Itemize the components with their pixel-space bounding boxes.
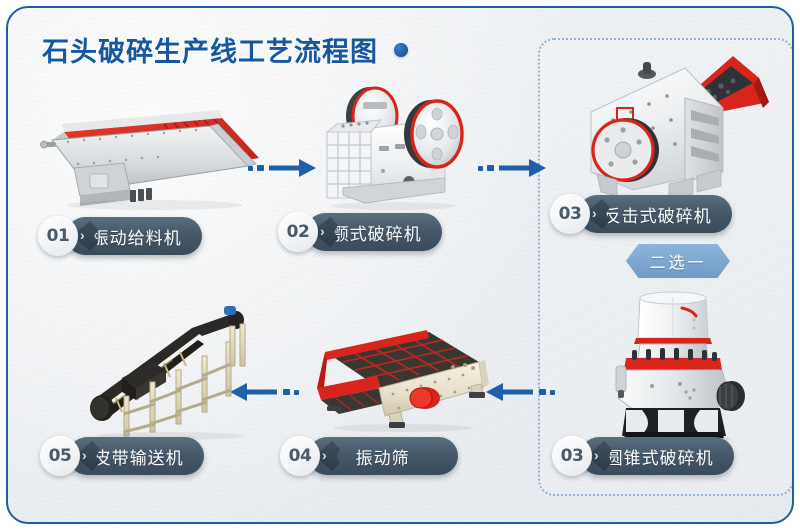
step-label-text: 圆锥式破碎机 — [606, 444, 714, 469]
step-label-pill[interactable]: › 振动筛 — [308, 437, 458, 475]
step-05[interactable]: 05 › 皮带输送机 — [40, 436, 204, 476]
step-number-badge: 04 — [280, 436, 320, 476]
chevron-right-icon: › — [592, 206, 597, 220]
arrow-feeder-to-jaw — [248, 156, 317, 180]
step-number-badge: 01 — [38, 216, 78, 256]
step-label-text: 振动筛 — [356, 444, 410, 469]
arrow-dots — [539, 389, 555, 395]
step-03-impact[interactable]: 03 › 反击式破碎机 — [550, 194, 732, 234]
machine-image-vibrating-feeder — [34, 90, 269, 210]
step-number-badge: 03 — [550, 194, 590, 234]
step-label-pill[interactable]: › 反击式破碎机 — [578, 195, 732, 233]
arrow-dots — [283, 389, 299, 395]
arrow-dots — [478, 165, 494, 171]
machine-image-belt-conveyor — [80, 300, 260, 440]
alternative-banner: 二选一 — [626, 244, 730, 278]
step-04[interactable]: 04 › 振动筛 — [280, 436, 458, 476]
step-number-badge: 03 — [552, 436, 592, 476]
chevron-right-icon: › — [82, 448, 87, 462]
machine-image-jaw-crusher — [313, 76, 483, 211]
page-title: 石头破碎生产线工艺流程图 — [42, 30, 408, 69]
chevron-right-icon: › — [594, 448, 599, 462]
step-label-pill[interactable]: › 振动给料机 — [66, 217, 202, 255]
step-number-badge: 02 — [278, 212, 318, 252]
flowchart-canvas: 石头破碎生产线工艺流程图 — [0, 0, 800, 530]
alternative-banner-text: 二选一 — [649, 249, 706, 273]
step-03-cone[interactable]: 03 › 圆锥式破碎机 — [552, 436, 734, 476]
title-text: 石头破碎生产线工艺流程图 — [42, 30, 378, 69]
arrow-dots — [248, 165, 264, 171]
title-dot-icon — [394, 43, 408, 57]
step-label-pill[interactable]: › 颚式破碎机 — [306, 213, 442, 251]
machine-image-vibrating-screen — [303, 318, 493, 433]
machine-image-cone-crusher — [596, 286, 766, 441]
step-label-text: 颚式破碎机 — [332, 220, 422, 245]
arrow-crusher-to-screen — [486, 380, 555, 404]
step-01[interactable]: 01 › 振动给料机 — [38, 216, 202, 256]
step-label-text: 皮带输送机 — [94, 444, 184, 469]
machine-image-impact-crusher — [573, 50, 788, 210]
step-label-pill[interactable]: › 皮带输送机 — [68, 437, 204, 475]
chevron-right-icon: › — [320, 224, 325, 238]
chevron-right-icon: › — [80, 228, 85, 242]
step-label-text: 反击式破碎机 — [604, 202, 712, 227]
step-label-pill[interactable]: › 圆锥式破碎机 — [580, 437, 734, 475]
chevron-right-icon: › — [322, 448, 327, 462]
diagram-frame: 石头破碎生产线工艺流程图 — [6, 6, 794, 524]
step-02[interactable]: 02 › 颚式破碎机 — [278, 212, 442, 252]
step-number-badge: 05 — [40, 436, 80, 476]
arrow-jaw-to-impact — [478, 156, 547, 180]
step-label-text: 振动给料机 — [92, 224, 182, 249]
